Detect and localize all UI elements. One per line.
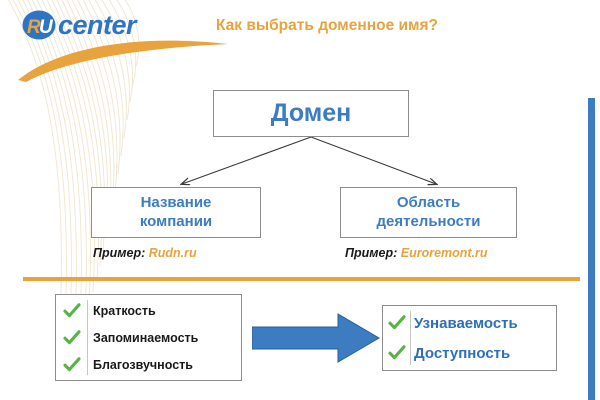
- list-item-label: Благозвучность: [93, 358, 193, 372]
- example-activity-prefix: Пример:: [345, 246, 397, 260]
- panel-name-goals-list: Узнаваемость Доступность: [383, 306, 556, 370]
- panel-name-goals: Узнаваемость Доступность: [382, 305, 557, 371]
- diagram-node-company-name-label: Название компании: [140, 194, 212, 232]
- list-item: Узнаваемость: [383, 308, 556, 338]
- right-edge-accent-bar: [588, 98, 595, 400]
- company-name-line2: компании: [140, 213, 212, 230]
- example-activity-area: Пример: Euroremont.ru: [345, 246, 488, 260]
- diagram-node-activity-area-label: Область деятельности: [377, 194, 481, 232]
- svg-text:U: U: [39, 17, 54, 38]
- check-icon: [56, 303, 87, 319]
- list-item: Краткость: [56, 297, 241, 324]
- list-item-label: Краткость: [93, 304, 156, 318]
- section-divider: [23, 277, 580, 281]
- example-company-name: Пример: Rudn.ru: [93, 246, 197, 260]
- activity-area-line1: Область: [397, 194, 460, 211]
- list-item-label: Доступность: [414, 345, 510, 362]
- page-title: Как выбрать доменное имя?: [216, 17, 438, 35]
- flow-arrow-right-icon: [252, 313, 380, 363]
- ru-logo-mark-icon: R U: [22, 10, 56, 41]
- list-item-label: Запоминаемость: [93, 331, 198, 345]
- activity-area-line2: деятельности: [377, 213, 481, 230]
- example-company-prefix: Пример:: [93, 246, 145, 260]
- panel-name-rules: Краткость Запоминаемость Благозвучность: [55, 294, 242, 381]
- diagram-node-root-label: Домен: [271, 99, 352, 128]
- ru-center-logo[interactable]: R U center: [22, 8, 187, 42]
- decorative-swoosh-band: [0, 0, 165, 322]
- diagram-node-company-name: Название компании: [91, 187, 261, 238]
- list-item: Доступность: [383, 338, 556, 368]
- logo-wordmark: center: [58, 12, 136, 39]
- list-item: Запоминаемость: [56, 324, 241, 351]
- list-item: Благозвучность: [56, 351, 241, 378]
- check-icon: [56, 357, 87, 373]
- example-company-value: Rudn.ru: [149, 246, 197, 260]
- check-icon: [383, 345, 410, 361]
- slide-canvas: R U center Как выбрать доменное имя? Дом…: [0, 0, 600, 400]
- check-icon: [56, 330, 87, 346]
- list-item-label: Узнаваемость: [414, 315, 518, 332]
- check-icon: [383, 315, 410, 331]
- diagram-node-root: Домен: [213, 90, 409, 137]
- diagram-node-activity-area: Область деятельности: [340, 187, 517, 238]
- panel-name-rules-list: Краткость Запоминаемость Благозвучность: [56, 295, 241, 380]
- company-name-line1: Название: [141, 194, 212, 211]
- example-activity-value: Euroremont.ru: [401, 246, 488, 260]
